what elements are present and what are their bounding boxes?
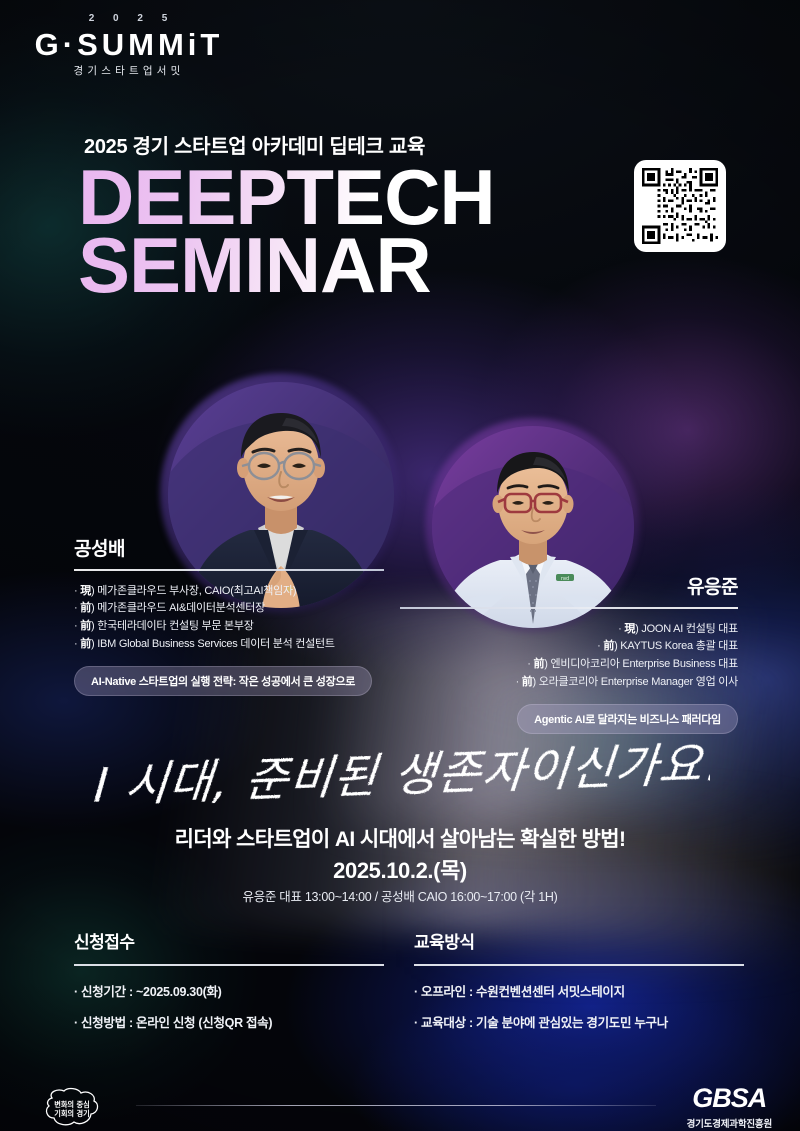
- poster: 2 0 2 5 G·SUMMiT 경기스타트업서밋 2025 경기 스타트업 아…: [0, 0, 800, 1131]
- gyeonggi-logo: 변화의 중심 기회의 경기: [38, 1086, 122, 1126]
- page-title: DEEPTECH SEMINAR: [78, 160, 495, 302]
- speaker-rule-left: [74, 569, 384, 571]
- speaker-info-left: 공성배 · 現) 메가존클라우드 부사장, CAIO(최고AI책임자) · 前)…: [74, 534, 384, 696]
- gyeonggi-logo-line-2: 기회의 경기: [54, 1109, 90, 1118]
- list-item: · 오프라인 : 수원컨벤션센터 서밋스테이지: [414, 981, 744, 1000]
- gbsa-logo: GBSA 경기도경제과학진흥원: [687, 1085, 772, 1130]
- list-item: · 前) 오라클코리아 Enterprise Manager 영업 이사: [400, 674, 738, 692]
- qr-code[interactable]: [634, 160, 726, 252]
- gbsa-logo-mark: GBSA: [687, 1085, 772, 1112]
- credential-text: ) IBM Global Business Services 데이터 분석 컨설…: [91, 638, 335, 650]
- list-item: · 前) 메가존클라우드 AI&데이터분석센터장: [74, 600, 384, 618]
- list-item: · 前) 한국테라데이타 컨설팅 부문 본부장: [74, 618, 384, 636]
- credential-prefix: 前: [522, 676, 533, 688]
- qr-code-icon: [642, 168, 718, 244]
- credential-text: ) 한국테라데이타 컨설팅 부문 본부장: [91, 620, 254, 632]
- speaker-topic-badge-right: Agentic AI로 달라지는 비즈니스 패러다임: [517, 704, 738, 734]
- speaker-name-right: 유응준: [400, 572, 738, 599]
- list-item: · 前) KAYTUS Korea 총괄 대표: [400, 638, 738, 656]
- gyeonggi-logo-line-1: 변화의 중심: [54, 1100, 90, 1109]
- credential-prefix: 前: [603, 640, 614, 652]
- list-item: · 現) JOON AI 컨설팅 대표: [400, 621, 738, 639]
- list-item: · 교육대상 : 기술 분야에 관심있는 경기도민 누구나: [414, 1012, 744, 1031]
- list-item: · 現) 메가존클라우드 부사장, CAIO(최고AI책임자): [74, 583, 384, 601]
- speaker-info-right: 유응준 · 現) JOON AI 컨설팅 대표 · 前) KAYTUS Kore…: [400, 572, 738, 734]
- event-schedule: 유응준 대표 13:00~14:00 / 공성배 CAIO 16:00~17:0…: [0, 886, 800, 905]
- speaker-credentials-right: · 現) JOON AI 컨설팅 대표 · 前) KAYTUS Korea 총괄…: [400, 621, 738, 692]
- list-item: · 前) IBM Global Business Services 데이터 분석…: [74, 636, 384, 654]
- list-item: · 前) 엔비디아코리아 Enterprise Business 대표: [400, 656, 738, 674]
- credential-prefix: 現: [624, 623, 635, 635]
- info-title-method: 교육방식: [414, 928, 744, 953]
- speaker-name-left: 공성배: [74, 534, 384, 561]
- credential-text: ) KAYTUS Korea 총괄 대표: [614, 640, 738, 652]
- credential-text: ) 메가존클라우드 부사장, CAIO(최고AI책임자): [91, 585, 296, 597]
- event-date: 2025.10.2.(목): [0, 853, 800, 885]
- info-list-apply: · 신청기간 : ~2025.09.30(화) · 신청방법 : 온라인 신청 …: [74, 981, 384, 1031]
- info-section-method: 교육방식 · 오프라인 : 수원컨벤션센터 서밋스테이지 · 교육대상 : 기술…: [414, 928, 744, 1043]
- credential-text: ) 엔비디아코리아 Enterprise Business 대표: [544, 658, 738, 670]
- speaker-topic-badge-left: AI-Native 스타트업의 실행 전략: 작은 성공에서 큰 성장으로: [74, 666, 372, 696]
- footer-divider: [136, 1105, 656, 1106]
- speaker-rule-right: [400, 607, 738, 609]
- credential-prefix: 前: [80, 638, 91, 650]
- credential-text: ) 오라클코리아 Enterprise Manager 영업 이사: [533, 676, 738, 688]
- credential-text: ) 메가존클라우드 AI&데이터분석센터장: [91, 602, 265, 614]
- gyeonggi-logo-icon: 변화의 중심 기회의 경기: [38, 1086, 122, 1130]
- credential-prefix: 現: [80, 585, 91, 597]
- summit-logo-year: 2 0 2 5: [30, 14, 234, 24]
- summit-logo: 2 0 2 5 G·SUMMiT 경기스타트업서밋: [24, 14, 234, 77]
- info-rule-apply: [74, 964, 384, 966]
- summit-logo-korean: 경기스타트업서밋: [24, 66, 234, 77]
- list-item: · 신청방법 : 온라인 신청 (신청QR 접속): [74, 1012, 384, 1031]
- speaker-credentials-left: · 現) 메가존클라우드 부사장, CAIO(최고AI책임자) · 前) 메가존…: [74, 583, 384, 654]
- handwritten-headline-svg: AI 시대, 준비된 생존자이신가요?: [90, 735, 710, 813]
- list-item: · 신청기간 : ~2025.09.30(화): [74, 981, 384, 1000]
- credential-prefix: 前: [80, 620, 91, 632]
- summit-logo-name: G·SUMMiT: [24, 29, 234, 60]
- credential-prefix: 前: [534, 658, 545, 670]
- svg-text:AI 시대, 준비된 생존자이신가요?: AI 시대, 준비된 생존자이신가요?: [90, 737, 710, 813]
- credential-text: ) JOON AI 컨설팅 대표: [635, 623, 738, 635]
- sub-headline: 리더와 스타트업이 AI 시대에서 살아남는 확실한 방법!: [0, 823, 800, 853]
- credential-prefix: 前: [80, 602, 91, 614]
- info-list-method: · 오프라인 : 수원컨벤션센터 서밋스테이지 · 교육대상 : 기술 분야에 …: [414, 981, 744, 1031]
- info-section-apply: 신청접수 · 신청기간 : ~2025.09.30(화) · 신청방법 : 온라…: [74, 928, 384, 1043]
- info-title-apply: 신청접수: [74, 928, 384, 953]
- gbsa-logo-sub: 경기도경제과학진흥원: [687, 1116, 772, 1130]
- info-rule-method: [414, 964, 744, 966]
- handwritten-headline: AI 시대, 준비된 생존자이신가요?: [0, 735, 800, 813]
